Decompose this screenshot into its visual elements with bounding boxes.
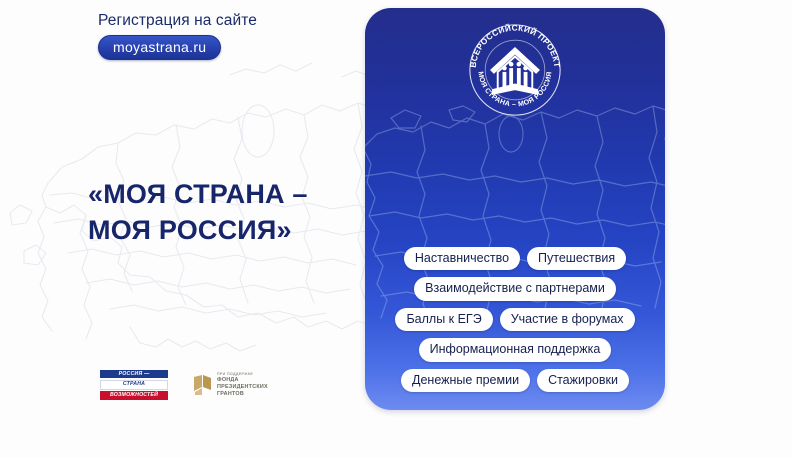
registration-label: Регистрация на сайте [98,12,348,30]
tag-item[interactable]: Наставничество [404,247,520,271]
project-emblem: ВСЕРОССИЙСКИЙ ПРОЕКТ МОЯ СТРАНА – МОЯ РО… [467,22,563,118]
registration-block: Регистрация на сайте moyastrana.ru [98,12,348,60]
page-title-line-1: «МОЯ СТРАНА – [88,176,368,212]
rsv-line-2: СТРАНА [100,380,168,390]
tag-item[interactable]: Взаимодействие с партнерами [414,277,616,301]
logo-rossiya-strana-vozmozhnostey: РОССИЯ — СТРАНА ВОЗМОЖНОСТЕЙ [100,370,168,400]
website-url-pill[interactable]: moyastrana.ru [98,35,221,60]
tag-item[interactable]: Информационная поддержка [419,338,612,362]
page-title-line-2: МОЯ РОССИЯ» [88,212,368,248]
tag-row: Информационная поддержка [375,338,655,362]
page-title: «МОЯ СТРАНА – МОЯ РОССИЯ» [88,176,368,248]
tag-row: Взаимодействие с партнерами [375,277,655,301]
tag-item[interactable]: Участие в форумах [500,308,635,332]
emblem-arc-top: ВСЕРОССИЙСКИЙ ПРОЕКТ [469,22,562,68]
fond-small-line: ПРИ ПОДДЕРЖКЕ [217,372,268,376]
fond-line-1: ФОНДА [217,377,268,384]
tag-row: Баллы к ЕГЭ Участие в форумах [375,308,655,332]
rsv-line-1: РОССИЯ — [100,370,168,378]
tag-item[interactable]: Баллы к ЕГЭ [395,308,492,332]
partner-logos: РОССИЯ — СТРАНА ВОЗМОЖНОСТЕЙ ПРИ ПОДДЕРЖ… [100,370,268,400]
svg-text:ВСЕРОССИЙСКИЙ ПРОЕКТ: ВСЕРОССИЙСКИЙ ПРОЕКТ [469,22,562,68]
tag-row: Наставничество Путешествия [375,247,655,271]
tag-item[interactable]: Путешествия [527,247,626,271]
fond-line-2: ПРЕЗИДЕНТСКИХ [217,384,268,391]
rsv-line-3: ВОЗМОЖНОСТЕЙ [100,391,168,399]
fond-line-3: ГРАНТОВ [217,391,268,398]
tag-row: Денежные премии Стажировки [375,369,655,393]
tag-item[interactable]: Стажировки [537,369,629,393]
logo-presidential-grants-fund: ПРИ ПОДДЕРЖКЕ ФОНДА ПРЕЗИДЕНТСКИХ ГРАНТО… [192,372,268,398]
tag-item[interactable]: Денежные премии [401,369,530,393]
project-panel: ВСЕРОССИЙСКИЙ ПРОЕКТ МОЯ СТРАНА – МОЯ РО… [365,8,665,410]
benefit-tag-list: Наставничество Путешествия Взаимодействи… [375,247,655,393]
ribbon-icon [192,374,212,396]
fond-text: ПРИ ПОДДЕРЖКЕ ФОНДА ПРЕЗИДЕНТСКИХ ГРАНТО… [217,372,268,398]
